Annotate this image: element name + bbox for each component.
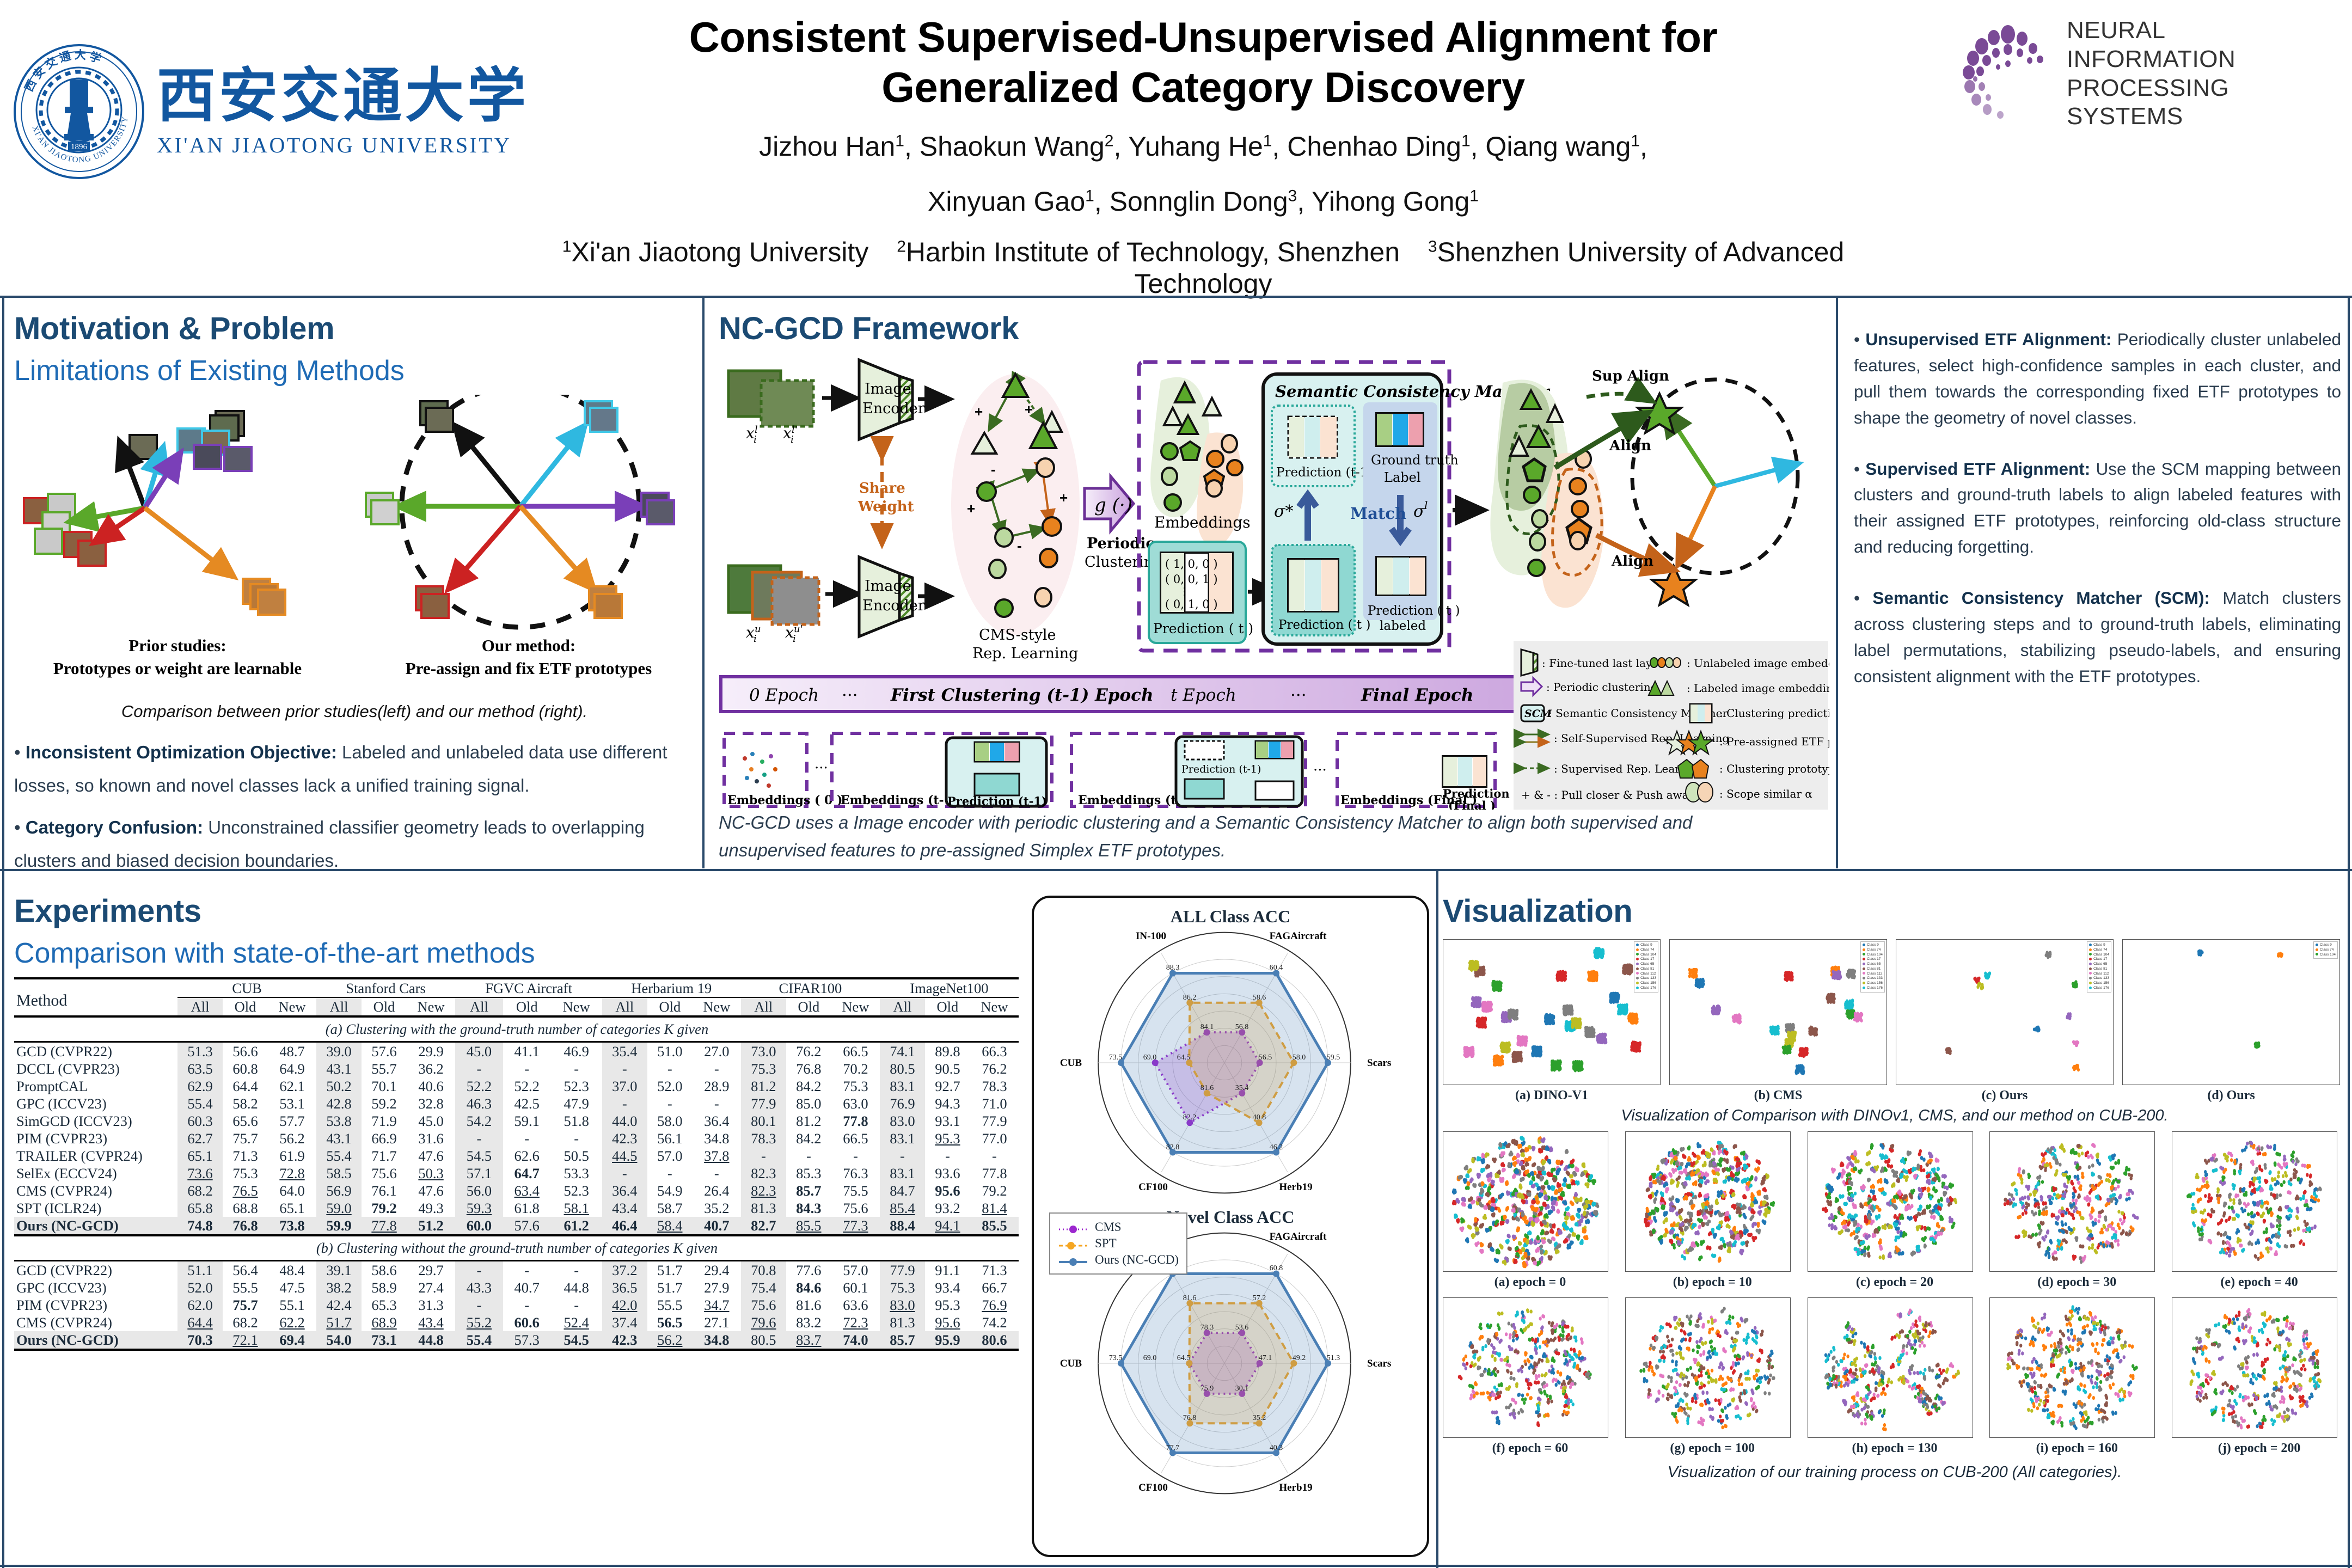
subcol-header: All — [455, 997, 503, 1016]
cell: 44.8 — [551, 1279, 602, 1296]
svg-text:: Scope similar α: : Scope similar α — [1719, 787, 1812, 800]
subcol-header: Old — [647, 997, 693, 1016]
svg-text:( 0, 0, 1 ): ( 0, 0, 1 ) — [1165, 573, 1218, 586]
svg-text:σ: σ — [1413, 502, 1425, 521]
cell: 46.9 — [551, 1042, 602, 1061]
svg-text:Embeddings (t-1): Embeddings (t-1) — [841, 793, 958, 807]
motivation-left-caption-line-1: Prior studies: — [36, 634, 319, 657]
cell: 83.1 — [880, 1130, 925, 1147]
table-row: PromptCAL62.964.462.150.270.140.652.252.… — [14, 1077, 1019, 1095]
visualization-comparison-row: Class 9Class 74Class 104Class 17Class 65… — [1443, 939, 2330, 1102]
legend-item: Class 17 — [1636, 957, 1656, 962]
cell: - — [602, 1165, 647, 1182]
svg-text:: Labeled image embedding & au: : Labeled image embedding & augmented — [1687, 682, 1829, 695]
svg-text:Align: Align — [1609, 438, 1651, 454]
cell: 70.2 — [831, 1060, 880, 1077]
cell: 47.5 — [268, 1279, 316, 1296]
cell: 74.8 — [177, 1217, 223, 1235]
bottom-border — [0, 1565, 2352, 1567]
legend-item: Class 9 — [2089, 943, 2109, 948]
cell: 47.6 — [407, 1182, 455, 1199]
svg-text:Share: Share — [859, 480, 905, 497]
svg-text:Embeddings (t): Embeddings (t) — [1078, 793, 1182, 807]
motivation-right-caption-line-1: Our method: — [373, 634, 684, 657]
svg-text:Image: Image — [865, 381, 911, 397]
legend-item: Class 104 — [1863, 953, 1883, 958]
part-b-caption: (b) Clustering without the ground-truth … — [14, 1235, 1019, 1261]
cell: 42.0 — [602, 1296, 647, 1314]
cell: 93.1 — [925, 1112, 970, 1130]
radar-legend-label-cms: CMS — [1095, 1220, 1122, 1234]
svg-text:Label: Label — [1384, 470, 1421, 485]
legend-item: Class 74 — [1636, 948, 1656, 953]
svg-text:: Periodic clustering: : Periodic clustering — [1546, 681, 1658, 694]
author-line-1: Jizhou Han1, Shaokun Wang2, Yuhang He1, … — [523, 126, 1884, 167]
visualization-comparison-item: Class 9Class 74Class 104(d) Ours — [2122, 939, 2340, 1102]
cell: 56.4 — [223, 1261, 268, 1279]
method-name: SimGCD (ICCV23) — [14, 1112, 177, 1130]
method-name: TRAILER (CVPR24) — [14, 1147, 177, 1165]
cell: 27.4 — [407, 1279, 455, 1296]
svg-text:···: ··· — [1290, 685, 1307, 705]
cell: 72.1 — [223, 1331, 268, 1350]
svg-text:( 1, 0, 0 ): ( 1, 0, 0 ) — [1165, 558, 1218, 571]
subcol-header: All — [741, 997, 786, 1016]
cell: 54.5 — [455, 1147, 503, 1165]
visualization-panel: Visualization Class 9Class 74Class 104Cl… — [1443, 893, 2347, 1563]
svg-text:58.6: 58.6 — [1253, 994, 1266, 1002]
svg-text:Sup Align: Sup Align — [1592, 368, 1669, 384]
cell: 91.1 — [925, 1261, 970, 1279]
scatter-caption: (a) DINO-V1 — [1443, 1088, 1661, 1103]
subcol-header: Old — [503, 997, 551, 1016]
table-row: TRAILER (CVPR24)65.171.361.955.471.747.6… — [14, 1147, 1019, 1165]
cell: 83.0 — [880, 1112, 925, 1130]
cell: 83.1 — [880, 1077, 925, 1095]
cell: 64.7 — [503, 1165, 551, 1182]
cell: 39.0 — [316, 1042, 362, 1061]
table-row: GCD (CVPR22)51.156.448.439.158.629.7---3… — [14, 1261, 1019, 1279]
cell: 55.2 — [455, 1314, 503, 1331]
cell: 58.7 — [647, 1199, 693, 1217]
radar-chart-0-title: ALL Class ACC — [1034, 906, 1427, 927]
cell: 64.0 — [268, 1182, 316, 1199]
cell: 59.0 — [316, 1199, 362, 1217]
cell: 70.3 — [177, 1331, 223, 1350]
cell: 79.2 — [362, 1199, 407, 1217]
cell: 76.8 — [223, 1217, 268, 1235]
table-row: SelEx (ECCV24)73.675.372.858.575.650.357… — [14, 1165, 1019, 1182]
cell: 85.5 — [970, 1217, 1019, 1235]
epoch-caption: (d) epoch = 30 — [1989, 1275, 2164, 1290]
cell: 53.3 — [551, 1165, 602, 1182]
radar-legend-item-cms: CMS — [1058, 1220, 1179, 1234]
epoch-scatter-plot — [1989, 1297, 2155, 1438]
legend-item: Class 176 — [2089, 986, 2109, 991]
cell: 94.1 — [925, 1217, 970, 1235]
svg-text:88.3: 88.3 — [1166, 964, 1180, 972]
subcol-header: Old — [362, 997, 407, 1016]
svg-text:: Clustering prediction: : Clustering prediction — [1719, 707, 1829, 720]
cell: 64.4 — [177, 1314, 223, 1331]
experiments-panel: Experiments Comparison with state-of-the… — [14, 893, 1021, 1353]
svg-text:Periodic: Periodic — [1087, 535, 1155, 552]
svg-text:81.6: 81.6 — [1183, 1294, 1197, 1302]
cell: 83.0 — [880, 1296, 925, 1314]
dataset-header: Herbarium 19 — [602, 978, 741, 997]
cell: 29.9 — [407, 1042, 455, 1061]
cell: 31.6 — [407, 1130, 455, 1147]
svg-text:labeled: labeled — [1380, 619, 1426, 633]
cell: 57.6 — [362, 1042, 407, 1061]
cell: 85.7 — [786, 1182, 831, 1199]
cell: 84.6 — [786, 1279, 831, 1296]
cell: - — [503, 1296, 551, 1314]
svg-text:CUB: CUB — [1060, 1358, 1082, 1369]
cell: 52.3 — [551, 1077, 602, 1095]
cell: - — [647, 1060, 693, 1077]
cell: 66.7 — [970, 1279, 1019, 1296]
cell: 70.8 — [741, 1261, 786, 1279]
svg-text:+: + — [975, 403, 983, 420]
svg-text:-: - — [991, 461, 996, 477]
motivation-panel: Motivation & Problem Limitations of Exis… — [14, 310, 695, 866]
cell: - — [503, 1060, 551, 1077]
cell: 62.9 — [177, 1077, 223, 1095]
epoch-visualization-item: (f) epoch = 60 — [1443, 1297, 1618, 1456]
scatter-caption: (c) Ours — [1896, 1088, 2114, 1103]
radar-legend-label-ours: Ours (NC-GCD) — [1095, 1253, 1179, 1267]
cell: 81.3 — [741, 1199, 786, 1217]
cell: 27.1 — [693, 1314, 741, 1331]
cell: 66.3 — [970, 1042, 1019, 1061]
cell: 54.2 — [455, 1112, 503, 1130]
framework-panel: NC-GCD Framework — [719, 310, 1829, 866]
cell: 42.8 — [316, 1095, 362, 1112]
table-row: GPC (ICCV23)55.458.253.142.859.232.846.3… — [14, 1095, 1019, 1112]
epoch-caption: (c) epoch = 20 — [1808, 1275, 1982, 1290]
cell: 81.4 — [970, 1199, 1019, 1217]
affiliation-line: 1Xi'an Jiaotong University 2Harbin Insti… — [523, 236, 1884, 299]
cell: 77.6 — [786, 1261, 831, 1279]
svg-text:CMS-style: CMS-style — [979, 627, 1056, 644]
svg-text:CF100: CF100 — [1138, 1482, 1168, 1493]
cell: 77.8 — [362, 1217, 407, 1235]
cell: - — [551, 1060, 602, 1077]
visualization-row2-note: Visualization of our training process on… — [1443, 1463, 2347, 1481]
table-row: Ours (NC-GCD)74.876.873.859.977.851.260.… — [14, 1217, 1019, 1235]
svg-text:CUB: CUB — [1060, 1057, 1082, 1069]
legend-item: Class 9 — [1863, 943, 1883, 948]
cell: 58.2 — [223, 1095, 268, 1112]
svg-text:30.1: 30.1 — [1235, 1385, 1249, 1393]
method-name: Ours (NC-GCD) — [14, 1331, 177, 1350]
cell: 55.4 — [455, 1331, 503, 1350]
table-row: PIM (CVPR23)62.775.756.243.166.931.6---4… — [14, 1130, 1019, 1147]
radar-chart-all-class-acc: FAGAircraftScarsHerb19CF100CUBIN-10060.4… — [1034, 927, 1427, 1202]
method-name: GCD (CVPR22) — [14, 1042, 177, 1061]
epoch-caption: (a) epoch = 0 — [1443, 1275, 1618, 1290]
cell: 46.3 — [455, 1095, 503, 1112]
svg-text:: Unlabeled image embedding &: : Unlabeled image embedding & augmented — [1687, 657, 1829, 670]
cell: 85.5 — [786, 1217, 831, 1235]
cell: 92.7 — [925, 1077, 970, 1095]
subcol-header: New — [407, 997, 455, 1016]
method-name: GPC (ICCV23) — [14, 1095, 177, 1112]
legend-item: Class 81 — [2089, 967, 2109, 972]
cell: 56.1 — [647, 1130, 693, 1147]
svg-text:46.2: 46.2 — [1270, 1143, 1283, 1151]
epoch-scatter-plot — [1625, 1297, 1791, 1438]
svg-text:: Pre-assigned ETF prototype: : Pre-assigned ETF prototype p — [1719, 735, 1829, 748]
cell: 34.8 — [693, 1130, 741, 1147]
cell: 44.0 — [602, 1112, 647, 1130]
svg-text:i: i — [793, 633, 796, 645]
cell: 77.9 — [741, 1095, 786, 1112]
cell: 42.3 — [602, 1130, 647, 1147]
cell: - — [602, 1095, 647, 1112]
cell: 62.7 — [177, 1130, 223, 1147]
cell: 58.1 — [551, 1199, 602, 1217]
cell: 73.8 — [268, 1217, 316, 1235]
cell: 37.4 — [602, 1314, 647, 1331]
cell: 47.6 — [407, 1147, 455, 1165]
cell: 76.8 — [786, 1060, 831, 1077]
cell: 29.7 — [407, 1261, 455, 1279]
method-name: SelEx (ECCV24) — [14, 1165, 177, 1182]
neurips-swirl-icon — [1956, 22, 2059, 126]
cell: 75.7 — [223, 1130, 268, 1147]
svg-text:Prediction ( t ): Prediction ( t ) — [1368, 604, 1460, 618]
legend-item: Class 104 — [2316, 953, 2336, 958]
epoch-visualization-item: (g) epoch = 100 — [1625, 1297, 1800, 1456]
scatter-caption: (d) Ours — [2122, 1088, 2340, 1103]
epoch-visualization-item: (j) epoch = 200 — [2172, 1297, 2347, 1456]
svg-text:-: - — [1017, 537, 1022, 554]
svg-text:Scars: Scars — [1367, 1358, 1391, 1369]
cell: 84.2 — [786, 1077, 831, 1095]
epoch-visualization-item: (c) epoch = 20 — [1808, 1131, 1982, 1290]
svg-text:+ & - : Pull closer & Pus: + & - : Pull closer & Push away — [1521, 788, 1695, 801]
cell: 62.1 — [268, 1077, 316, 1095]
legend-item: Class 112 — [2089, 972, 2109, 977]
cell: 39.1 — [316, 1261, 362, 1279]
cell: 52.0 — [177, 1279, 223, 1296]
svg-text:(Final ): (Final ) — [1448, 799, 1496, 810]
cell: 40.6 — [407, 1077, 455, 1095]
cell: 88.4 — [880, 1217, 925, 1235]
cell: 57.1 — [455, 1165, 503, 1182]
right-border — [2348, 297, 2350, 1568]
dataset-header: ImageNet100 — [880, 978, 1019, 997]
cell: 37.8 — [693, 1147, 741, 1165]
framework-caption: NC-GCD uses a Image encoder with periodi… — [719, 808, 1786, 864]
epoch-scatter-plot — [1989, 1131, 2155, 1272]
cell: 95.6 — [925, 1182, 970, 1199]
neurips-logo: NEURAL INFORMATION PROCESSING SYSTEMS — [1956, 15, 2337, 132]
svg-text:53.6: 53.6 — [1235, 1324, 1249, 1332]
epoch-scatter-plot — [1625, 1131, 1791, 1272]
table-row: DCCL (CVPR23)63.560.864.943.155.736.2---… — [14, 1060, 1019, 1077]
cell: 79.2 — [970, 1182, 1019, 1199]
cell: 58.5 — [316, 1165, 362, 1182]
panel-divider-left — [702, 297, 705, 868]
framework-title: NC-GCD Framework — [719, 310, 1829, 347]
cell: 63.5 — [177, 1060, 223, 1077]
svg-text:51.3: 51.3 — [1327, 1354, 1340, 1362]
visualization-row1-note: Visualization of Comparison with DINOv1,… — [1443, 1107, 2347, 1125]
cell: 48.4 — [268, 1261, 316, 1279]
svg-text:i: i — [754, 434, 757, 445]
epoch-caption: (i) epoch = 160 — [1989, 1441, 2164, 1456]
cell: 71.0 — [970, 1095, 1019, 1112]
motivation-left-caption: Prior studies: Prototypes or weight are … — [36, 634, 319, 680]
svg-text:Herb19: Herb19 — [1279, 1482, 1312, 1493]
cell: 47.9 — [551, 1095, 602, 1112]
cell: 57.0 — [831, 1261, 880, 1279]
cell: 95.3 — [925, 1296, 970, 1314]
cell: - — [455, 1296, 503, 1314]
cell: 76.5 — [223, 1182, 268, 1199]
key-points-list: • Unsupervised ETF Alignment: Periodical… — [1854, 327, 2341, 715]
cell: 78.3 — [741, 1130, 786, 1147]
legend-item: Class 112 — [1863, 972, 1883, 977]
poster-root: 1896 西 安 交 通 大 学 XI'AN JIAOTONG UNIVERSI… — [0, 0, 2352, 1568]
cell: 52.2 — [455, 1077, 503, 1095]
cell: 56.5 — [647, 1314, 693, 1331]
svg-text:Rep. Learning: Rep. Learning — [972, 645, 1078, 662]
cell: 26.4 — [693, 1182, 741, 1199]
epoch-visualization-item: (d) epoch = 30 — [1989, 1131, 2164, 1290]
cell: 41.1 — [503, 1042, 551, 1061]
epoch-caption: (e) epoch = 40 — [2172, 1275, 2347, 1290]
neurips-line-2: PROCESSING SYSTEMS — [2067, 74, 2337, 132]
cell: 63.4 — [503, 1182, 551, 1199]
subcol-header: Old — [925, 997, 970, 1016]
cell: 54.5 — [551, 1331, 602, 1350]
epoch-scatter-plot — [2172, 1297, 2337, 1438]
cell: - — [786, 1147, 831, 1165]
cell: 89.8 — [925, 1042, 970, 1061]
visualization-comparison-item: Class 9Class 74Class 104Class 17Class 65… — [1669, 939, 1887, 1102]
cell: 36.2 — [407, 1060, 455, 1077]
cell: 65.3 — [362, 1296, 407, 1314]
cell: 36.4 — [602, 1182, 647, 1199]
cell: 95.9 — [925, 1331, 970, 1350]
cell: 51.0 — [647, 1042, 693, 1061]
visualization-epoch-grid: (a) epoch = 0(b) epoch = 10(c) epoch = 2… — [1443, 1131, 2347, 1456]
legend-item: Class 9 — [2316, 943, 2336, 948]
cell: 45.0 — [407, 1112, 455, 1130]
method-name: SPT (ICLR24) — [14, 1199, 177, 1217]
cell: 54.9 — [647, 1182, 693, 1199]
part-a-caption: (a) Clustering with the ground-truth num… — [14, 1016, 1019, 1042]
cell: 75.6 — [362, 1165, 407, 1182]
experiments-subtitle: Comparison with state-of-the-art methods — [14, 937, 1021, 970]
cell: 77.8 — [831, 1112, 880, 1130]
cell: 95.6 — [925, 1314, 970, 1331]
subcol-header: All — [316, 997, 362, 1016]
legend-item: Class 17 — [2089, 957, 2109, 962]
table-row: GCD (CVPR22)51.356.648.739.057.629.945.0… — [14, 1042, 1019, 1061]
cell: - — [970, 1147, 1019, 1165]
visualization-comparison-item: Class 9Class 74Class 104Class 17Class 65… — [1896, 939, 2114, 1102]
table-row: GPC (ICCV23)52.055.547.538.258.927.443.3… — [14, 1279, 1019, 1296]
svg-text:82.2: 82.2 — [1183, 1113, 1197, 1122]
cell: 76.9 — [880, 1095, 925, 1112]
cell: 72.3 — [831, 1314, 880, 1331]
motivation-title: Motivation & Problem — [14, 310, 695, 347]
cell: 66.5 — [831, 1042, 880, 1061]
svg-text:Match: Match — [1350, 504, 1406, 523]
cell: 68.9 — [362, 1314, 407, 1331]
cell: 43.1 — [316, 1130, 362, 1147]
scatter-legend: Class 9Class 74Class 104Class 17Class 65… — [2087, 941, 2111, 993]
cell: 59.3 — [455, 1199, 503, 1217]
cell: 53.8 — [316, 1112, 362, 1130]
cell: 51.3 — [177, 1042, 223, 1061]
subcol-header: All — [602, 997, 647, 1016]
cell: 59.2 — [362, 1095, 407, 1112]
cell: 75.4 — [741, 1279, 786, 1296]
cell: 95.3 — [925, 1130, 970, 1147]
cell: 94.3 — [925, 1095, 970, 1112]
radar-legend-label-spt: SPT — [1095, 1236, 1117, 1251]
svg-text:σ*: σ* — [1274, 502, 1293, 521]
neurips-line-1: NEURAL INFORMATION — [2067, 16, 2337, 74]
svg-text:First Clustering (t-1) Epoch: First Clustering (t-1) Epoch — [890, 685, 1154, 705]
cell: 28.9 — [693, 1077, 741, 1095]
cell: 37.2 — [602, 1261, 647, 1279]
cell: 75.6 — [741, 1296, 786, 1314]
cell: 56.9 — [316, 1182, 362, 1199]
legend-item: Class 133 — [1863, 976, 1883, 981]
cell: 75.5 — [831, 1182, 880, 1199]
svg-text:Prediction (t-1): Prediction (t-1) — [1276, 465, 1373, 480]
epoch-caption: (h) epoch = 130 — [1808, 1441, 1982, 1456]
subcol-header: New — [831, 997, 880, 1016]
svg-text:40.3: 40.3 — [1270, 1444, 1283, 1452]
cell: 55.5 — [223, 1279, 268, 1296]
xjtu-english-name: XI'AN JIAOTONG UNIVERSITY — [157, 132, 529, 158]
svg-text:Prediction ( t ): Prediction ( t ) — [1278, 618, 1370, 632]
svg-text:( 0, 1, 0 ): ( 0, 1, 0 ) — [1165, 598, 1218, 611]
cell: 71.3 — [223, 1147, 268, 1165]
cell: 74.2 — [970, 1314, 1019, 1331]
cell: 93.2 — [925, 1199, 970, 1217]
affiliation-2: Harbin Institute of Technology, Shenzhen — [906, 237, 1400, 267]
cell: 56.0 — [455, 1182, 503, 1199]
cell: 77.3 — [831, 1217, 880, 1235]
cell: 27.9 — [693, 1279, 741, 1296]
cell: 70.1 — [362, 1077, 407, 1095]
cell: 63.6 — [831, 1296, 880, 1314]
cell: 76.2 — [970, 1060, 1019, 1077]
subcol-header: New — [693, 997, 741, 1016]
svg-text:76.8: 76.8 — [1183, 1414, 1197, 1422]
cell: 35.4 — [602, 1042, 647, 1061]
svg-text:CF100: CF100 — [1138, 1181, 1168, 1193]
svg-text:82.8: 82.8 — [1166, 1143, 1180, 1151]
cell: 51.1 — [177, 1261, 223, 1279]
cell: 68.2 — [177, 1182, 223, 1199]
legend-item: Class 65 — [2089, 962, 2109, 967]
cell: 68.2 — [223, 1314, 268, 1331]
legend-item: Class 65 — [1636, 962, 1656, 967]
svg-text:40.8: 40.8 — [1253, 1113, 1266, 1122]
svg-text:75.9: 75.9 — [1200, 1385, 1214, 1393]
method-name: PIM (CVPR23) — [14, 1296, 177, 1314]
